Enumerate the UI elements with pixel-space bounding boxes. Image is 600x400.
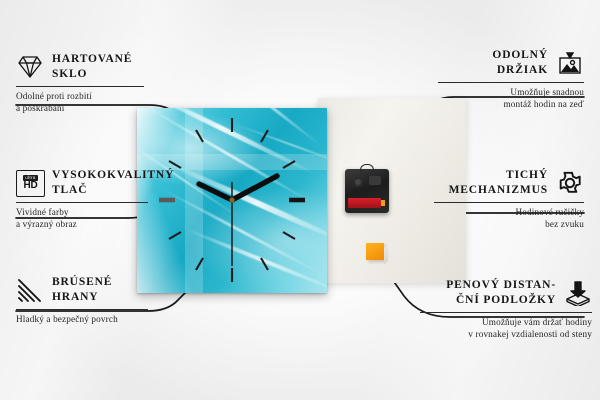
battery [348,198,381,208]
mechanism-block [369,176,381,185]
divider [16,202,148,203]
feature-title: TICHÝ MECHANIZMUS [449,168,548,197]
feature-title: PENOVÝ DISTAN- ČNÍ PODLOŽKY [446,278,556,307]
mechanism-dial [353,177,363,187]
clock-face [137,108,327,293]
feature-description: Umožňuje vám držať hodiny v rovnakej vzd… [420,317,592,340]
feature-tempered-glass: HARTOVANÉ SKLO Odolné proti rozbití a po… [16,52,144,114]
infographic-canvas: HARTOVANÉ SKLO Odolné proti rozbití a po… [0,0,600,400]
clock-dial [137,108,327,293]
gear-icon [556,170,584,196]
feature-hq-print: ultra HD VYSOKOKVALITNÝ TLAČ Vividné far… [16,168,148,230]
feature-durable-mount: ODOLNÝ DRŽIAK Umožňuje snadnou montáž ho… [438,48,584,110]
mechanism-hook-icon [360,164,374,172]
feature-description: Vividné farby a výrazný obraz [16,207,148,230]
feature-polished-edges: BRÚSENÉ HRANY Hladký a bezpečný povrch [16,275,148,326]
divider [420,312,592,313]
feature-title: ODOLNÝ DRŽIAK [492,48,548,77]
divider [438,82,584,83]
foam-spacer-icon [564,280,592,306]
diamond-icon [16,54,44,80]
foam-spacer-pad [366,243,384,260]
feature-foam-spacers: PENOVÝ DISTAN- ČNÍ PODLOŽKY Umožňuje vám… [420,278,592,340]
feature-description: Hodinové ručičky bez zvuku [434,207,584,230]
feature-description: Umožňuje snadnou montáž hodin na zeď [438,87,584,110]
polished-edges-icon [16,277,44,303]
feature-title: HARTOVANÉ SKLO [52,52,132,81]
feature-description: Hladký a bezpečný povrch [16,314,148,326]
wall-clock-product [137,108,327,293]
minute-hand [232,176,277,200]
ultra-hd-icon: ultra HD [16,170,44,196]
feature-title: VYSOKOKVALITNÝ TLAČ [52,168,174,197]
hour-hand [199,184,232,200]
feature-title: BRÚSENÉ HRANY [52,275,112,304]
divider [16,309,148,310]
feature-silent-mechanism: TICHÝ MECHANIZMUS Hodinové ručičky bez z… [434,168,584,230]
clock-center-cap [229,197,234,202]
feature-description: Odolné proti rozbití a poškrábání [16,91,144,114]
divider [434,202,584,203]
wall-mount-icon [556,50,584,76]
divider [16,86,144,87]
clock-mechanism [345,169,389,213]
